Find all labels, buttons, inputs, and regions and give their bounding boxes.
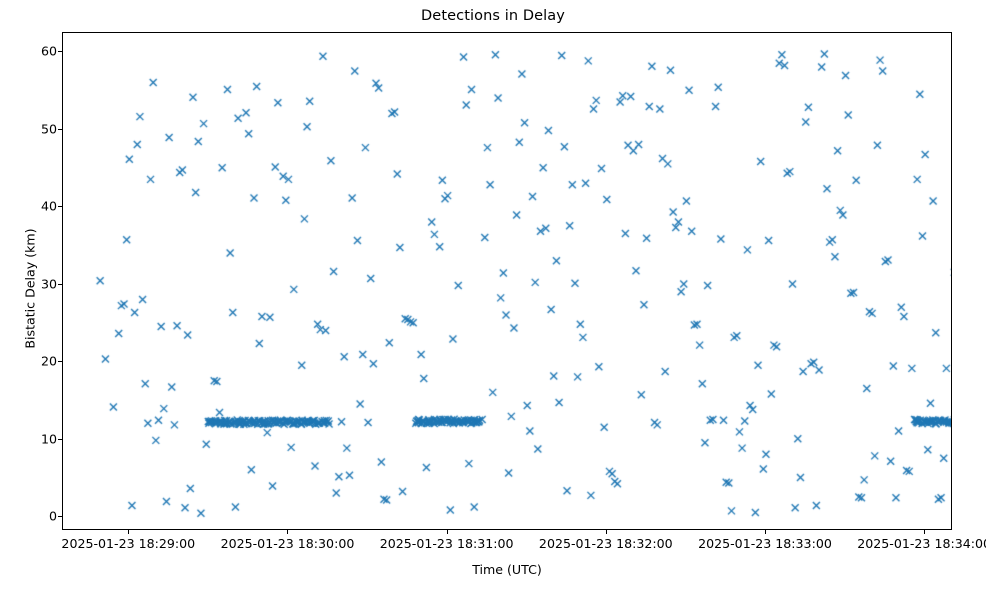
y-tick-label: 40 <box>41 199 60 214</box>
x-tick-label: 2025-01-23 18:29:00 <box>61 536 195 551</box>
y-tick-label: 60 <box>41 44 60 59</box>
y-axis-label: Bistatic Delay (km) <box>23 139 38 439</box>
y-tick-label: 0 <box>49 509 60 524</box>
y-tick-label: 30 <box>41 276 60 291</box>
x-tick-mark <box>606 530 607 534</box>
x-tick-mark <box>765 530 766 534</box>
x-tick-label: 2025-01-23 18:34:00 <box>857 536 986 551</box>
x-tick-mark <box>287 530 288 534</box>
plot-axes-area <box>62 32 952 530</box>
x-tick-mark <box>447 530 448 534</box>
chart-figure: Detections in Delay 0102030405060 2025-0… <box>0 0 986 590</box>
y-tick-label: 20 <box>41 354 60 369</box>
x-tick-label: 2025-01-23 18:30:00 <box>221 536 355 551</box>
x-tick-mark <box>924 530 925 534</box>
x-tick-mark <box>128 530 129 534</box>
y-tick-label: 10 <box>41 431 60 446</box>
x-axis-label: Time (UTC) <box>62 562 952 577</box>
x-tick-label: 2025-01-23 18:32:00 <box>539 536 673 551</box>
y-tick-label: 50 <box>41 121 60 136</box>
scatter-plot-canvas <box>63 33 952 530</box>
chart-title: Detections in Delay <box>0 8 986 24</box>
x-tick-label: 2025-01-23 18:31:00 <box>380 536 514 551</box>
x-tick-label: 2025-01-23 18:33:00 <box>698 536 832 551</box>
